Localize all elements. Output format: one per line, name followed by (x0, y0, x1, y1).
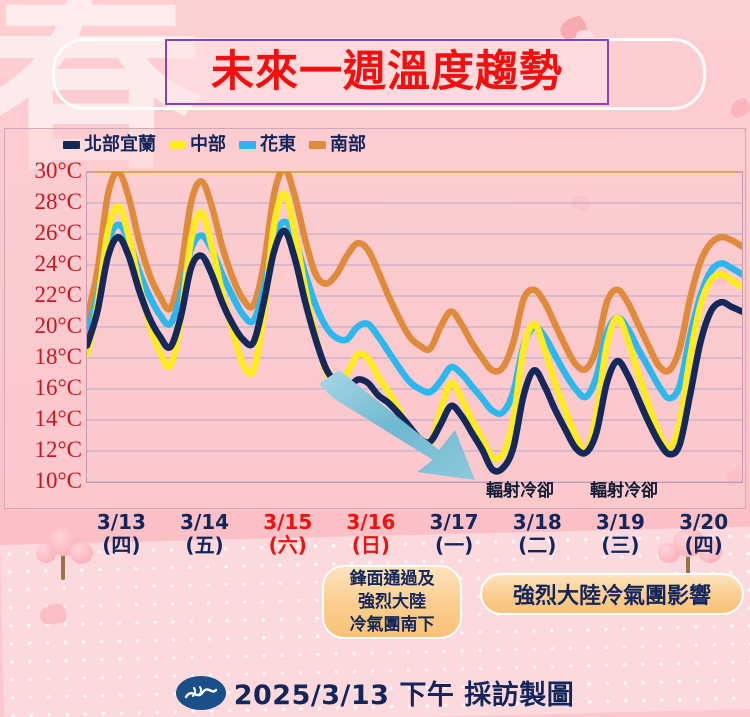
cwa-wave-logo-icon (176, 676, 226, 710)
y-axis-tick: 26°C (34, 221, 82, 244)
temperature-chart-panel: 北部宜蘭 中部 花東 南部 30°C28°C26°C24°C22°C20°C18… (4, 128, 746, 509)
y-axis: 30°C28°C26°C24°C22°C20°C18°C16°C14°C12°C… (5, 129, 89, 510)
x-axis-tick-3-15: 3/15(六) (248, 511, 328, 557)
radiative-cooling-label-2: 輻射冷卻 (590, 476, 658, 501)
y-axis-tick: 28°C (34, 190, 82, 213)
x-tick-weekday: (四) (664, 534, 744, 557)
chart-legend: 北部宜蘭 中部 花東 南部 (63, 136, 366, 154)
wave-glyph-icon (184, 683, 218, 703)
radiative-cooling-label-1: 輻射冷卻 (486, 476, 554, 501)
x-tick-weekday: (三) (580, 534, 660, 557)
x-tick-date: 3/14 (165, 511, 245, 534)
x-tick-date: 3/15 (248, 511, 328, 534)
x-tick-weekday: (五) (165, 534, 245, 557)
x-axis-tick-3-14: 3/14(五) (165, 511, 245, 557)
y-axis-tick: 10°C (34, 469, 82, 492)
x-tick-weekday: (日) (331, 534, 411, 557)
x-axis: 3/13(四)3/14(五)3/15(六)3/16(日)3/17(一)3/18(… (4, 511, 746, 563)
y-axis-tick: 20°C (34, 314, 82, 337)
x-axis-tick-3-19: 3/19(三) (580, 511, 660, 557)
x-tick-date: 3/17 (414, 511, 494, 534)
callout-cold-airmass: 強烈大陸冷氣團影響 (480, 573, 744, 615)
page-title: 未來一週溫度趨勢 (211, 51, 563, 94)
callout-1-line-3: 冷氣團南下 (350, 614, 435, 637)
callout-2-text: 強烈大陸冷氣團影響 (513, 578, 711, 610)
legend-label-north: 北部宜蘭 (84, 136, 156, 154)
x-axis-tick-3-18: 3/18(二) (497, 511, 577, 557)
y-axis-tick: 18°C (34, 345, 82, 368)
y-axis-tick: 24°C (34, 252, 82, 275)
x-tick-weekday: (二) (497, 534, 577, 557)
callout-1-line-2: 強烈大陸 (350, 591, 435, 614)
footer: 2025/3/13 下午 採訪製圖 (0, 668, 750, 717)
legend-item-south[interactable]: 南部 (309, 136, 366, 154)
y-axis-tick: 12°C (34, 438, 82, 461)
y-axis-tick: 22°C (34, 283, 82, 306)
x-tick-weekday: (一) (414, 534, 494, 557)
temperature-lines-svg (87, 172, 742, 482)
y-axis-tick: 14°C (34, 407, 82, 430)
x-tick-date: 3/16 (331, 511, 411, 534)
legend-label-east: 花東 (260, 136, 296, 154)
legend-label-central: 中部 (190, 136, 226, 154)
x-axis-tick-3-16: 3/16(日) (331, 511, 411, 557)
plot-area (86, 171, 743, 483)
y-axis-tick: 16°C (34, 376, 82, 399)
chart-series-group (87, 172, 742, 471)
x-tick-date: 3/19 (580, 511, 660, 534)
x-axis-tick-3-17: 3/17(一) (414, 511, 494, 557)
petal-icon (40, 604, 66, 624)
callout-1-line-1: 鋒面通過及 (350, 568, 435, 591)
x-tick-weekday: (六) (248, 534, 328, 557)
page-title-box: 未來一週溫度趨勢 (165, 39, 609, 105)
legend-swatch-south (309, 141, 326, 149)
x-tick-weekday: (四) (81, 534, 161, 557)
legend-swatch-east (239, 141, 256, 149)
footer-text: 2025/3/13 下午 採訪製圖 (234, 673, 575, 712)
legend-item-central[interactable]: 中部 (169, 136, 226, 154)
legend-label-south: 南部 (330, 136, 366, 154)
x-axis-tick-3-20: 3/20(四) (664, 511, 744, 557)
callout-cold-front: 鋒面通過及 強烈大陸 冷氣團南下 (322, 565, 462, 639)
legend-swatch-central (169, 141, 186, 149)
x-tick-date: 3/20 (664, 511, 744, 534)
y-axis-tick: 30°C (34, 159, 82, 182)
legend-item-east[interactable]: 花東 (239, 136, 296, 154)
x-axis-tick-3-13: 3/13(四) (81, 511, 161, 557)
x-tick-date: 3/18 (497, 511, 577, 534)
x-tick-date: 3/13 (81, 511, 161, 534)
